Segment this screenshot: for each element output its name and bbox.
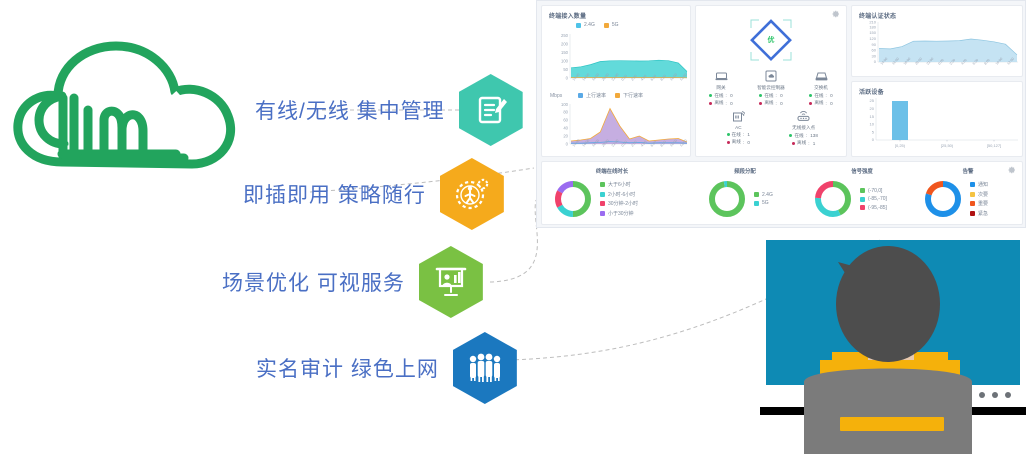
svg-text:150: 150 [869,30,876,35]
svg-text:100: 100 [561,59,569,64]
legend-online-duration: 大于6小时 2小时-6小时 30分钟-2小时 小于30分钟 [600,181,638,217]
svg-text:0: 0 [874,59,877,64]
ac-controller-icon [715,108,761,124]
svg-text:15: 15 [870,114,875,119]
device-offline-stat: 离线: 0 [698,100,744,106]
donut-chart-band-allocation [706,178,748,220]
svg-text:180: 180 [869,24,876,29]
feature-label-2: 即插即用 策略随行 [243,179,426,209]
svg-text:210: 210 [869,20,876,25]
svg-text:0: 0 [566,76,569,81]
svg-text:100: 100 [561,102,569,107]
wireless-ap-icon [781,108,827,124]
svg-text:10: 10 [870,122,875,127]
card-donut-row[interactable]: 终端在线时长 大于6小时 2小时-6小时 30分钟-2小时 小于30分钟 [541,161,1023,225]
svg-text:20: 20 [563,134,568,139]
people-group-icon[interactable] [453,332,517,404]
grade-badge: 优 [745,14,797,66]
feature-icon-3-wrap[interactable] [419,246,483,318]
legend-alarms: 通知 次要 重要 紧急 [970,181,988,217]
device-online-stat: 在线: 138 [781,133,827,139]
svg-text:0: 0 [566,142,569,147]
legend-rate: 上行速率 下行速率 [578,92,643,99]
card-active-devices[interactable]: 活跃设备 0510 152025 [0,25)[25,50)[50,127] [851,81,1023,157]
legend-terminal-access: 2.4G 5G [576,22,619,28]
legend-band-allocation: 2.4G 5G [754,192,773,207]
card-terminal-access[interactable]: 终端接入数量 2.4G 5G 050100 150200250 [541,5,691,157]
device-online-stat: 在线: 0 [748,93,794,99]
legend-item-uplink: 上行速率 [578,92,606,99]
device-wireless-ap[interactable]: 无线接入点 在线: 138 离线: 1 [781,108,827,146]
card-terminal-access-title: 终端接入数量 [549,11,586,20]
svg-text:250: 250 [561,33,569,38]
gear-person-icon[interactable] [440,158,504,230]
slide-canvas: lm 有线/无线 集中管理 即插即用 策略随行 [0,0,1026,457]
svg-text:20: 20 [870,106,875,111]
feature-row-3[interactable]: 场景优化 可视服务 [222,246,483,318]
feature-label-4: 实名审计 绿色上网 [256,353,439,383]
svg-text:5: 5 [872,129,875,134]
svg-text:[50,127]: [50,127] [987,143,1001,148]
device-offline-stat: 离线: 0 [715,139,761,145]
svg-text:25: 25 [870,98,875,103]
device-gateway[interactable]: 网关 在线: 0 离线: 0 [698,68,744,106]
gear-icon[interactable] [832,10,840,18]
legend-item-downlink: 下行速率 [615,92,643,99]
legend-item-24g: 2.4G [576,22,595,28]
donut-chart-alarms [922,178,964,220]
document-edit-icon[interactable] [459,74,523,146]
donut-signal-strength[interactable]: 信号强度 (-70,0] (-85,-70] (-95,-85] [802,165,922,223]
donut-chart-signal-strength [812,178,854,220]
svg-text:40: 40 [563,126,568,131]
donut-alarms[interactable]: 告警 通知 次要 重要 紧急 [916,165,1020,223]
switch-icon [798,68,844,84]
device-offline-stat: 离线: 0 [798,100,844,106]
rate-unit-label: Mbps [550,93,562,99]
presentation-chart-icon[interactable] [419,246,483,318]
person-at-monitor [760,232,1026,457]
legend-signal-strength: (-70,0] (-85,-70] (-95,-85] [860,188,887,211]
device-online-stat: 在线: 1 [715,132,761,138]
dashboard-panel[interactable]: 终端接入数量 2.4G 5G 050100 150200250 [536,0,1026,228]
device-grid: 网关 在线: 0 离线: 0 智能云控制器 在线: 0 离线: 0 [696,68,846,146]
svg-text:[0,25): [0,25) [895,143,906,148]
feature-icon-1-wrap[interactable] [459,74,523,146]
svg-text:120: 120 [869,36,876,41]
device-offline-stat: 离线: 0 [748,100,794,106]
legend-item-5g: 5G [604,22,619,28]
svg-text:0: 0 [872,137,875,142]
card-auth-status-title: 终端认证状态 [859,11,896,20]
feature-icon-2-wrap[interactable] [440,158,504,230]
cloud-controller-icon [748,68,794,84]
svg-text:[25,50): [25,50) [941,143,954,148]
device-online-stat: 在线: 0 [698,93,744,99]
svg-text:80: 80 [563,110,568,115]
donut-online-duration[interactable]: 终端在线时长 大于6小时 2小时-6小时 30分钟-2小时 小于30分钟 [552,165,672,223]
feature-label-3: 场景优化 可视服务 [222,267,405,297]
card-auth-status[interactable]: 终端认证状态 03060 90120150 180210 14:00 16:00… [851,5,1023,77]
svg-text:150: 150 [561,50,569,55]
svg-text:30: 30 [872,53,877,58]
device-offline-stat: 离线: 1 [781,140,827,146]
feature-icon-4-wrap[interactable] [453,332,517,404]
feature-row-1[interactable]: 有线/无线 集中管理 [255,74,523,146]
card-device-status[interactable]: 优 网关 在线: 0 离线: 0 [695,5,847,157]
svg-text:60: 60 [563,118,568,123]
donut-chart-online-duration [552,178,594,220]
feature-row-2[interactable]: 即插即用 策略随行 [243,158,504,230]
svg-text:200: 200 [561,42,569,47]
cloud-lm-logo: lm [6,32,246,197]
device-online-stat: 在线: 0 [798,93,844,99]
svg-text:90: 90 [872,42,877,47]
device-row-top: 网关 在线: 0 离线: 0 智能云控制器 在线: 0 离线: 0 [696,68,846,106]
donut-band-allocation[interactable]: 频段分配 2.4G 5G [690,165,800,223]
feature-label-1: 有线/无线 集中管理 [255,95,445,125]
gateway-icon [698,68,744,84]
device-switch[interactable]: 交换机 在线: 0 离线: 0 [798,68,844,106]
svg-text:50: 50 [563,67,568,72]
feature-row-4[interactable]: 实名审计 绿色上网 [256,332,517,404]
svg-text:60: 60 [872,48,877,53]
grade-badge-text: 优 [745,14,797,66]
device-cloud-controller[interactable]: 智能云控制器 在线: 0 离线: 0 [748,68,794,106]
device-ac[interactable]: AC 在线: 1 离线: 0 [715,108,761,146]
device-row-bottom: AC 在线: 1 离线: 0 无线接入点 在线: 138 离线: 1 [696,108,846,146]
